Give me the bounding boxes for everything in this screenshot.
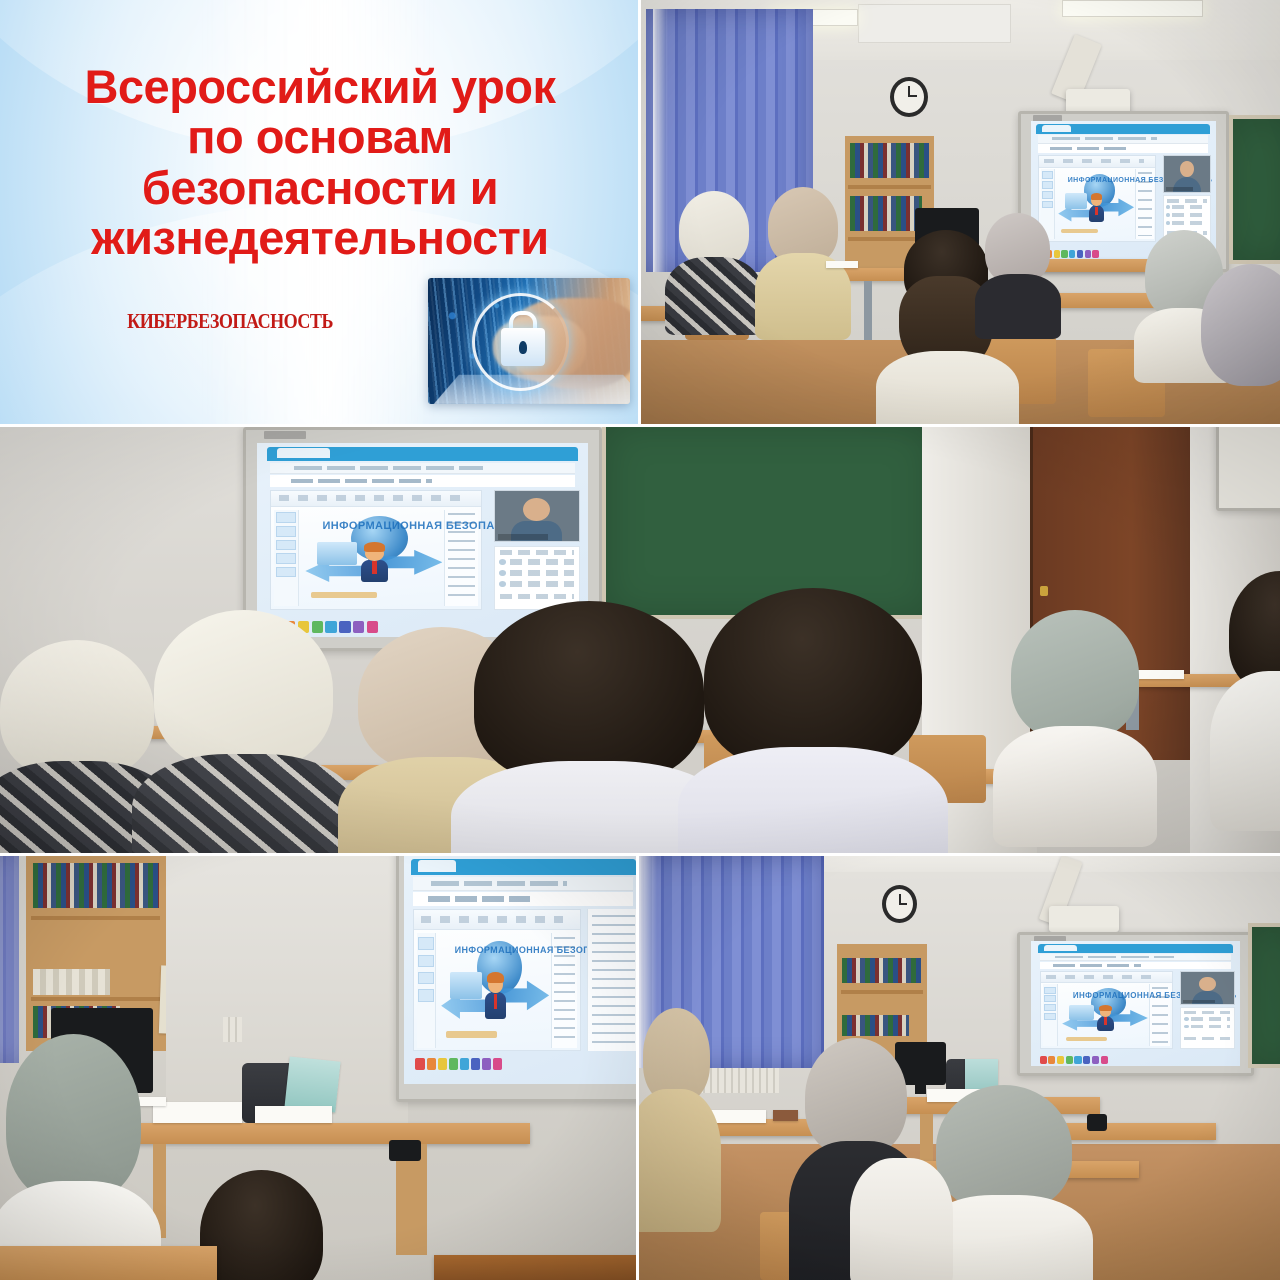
webinar-title-bar (413, 892, 633, 906)
headscarf (0, 640, 154, 779)
slide-illustration: ИНФОРМАЦИОННАЯ БЕЗОПАСНОСТЬ (1057, 173, 1136, 236)
headscarf (679, 191, 749, 267)
chalkboard (1248, 923, 1280, 1068)
webinar-title-bar (1040, 962, 1232, 969)
classroom-scene: ИНФОРМАЦИОННАЯ БЕЗОПАСНОСТЬ (638, 855, 1280, 1280)
slide-heading-text: ИНФОРМАЦИОННАЯ БЕЗОПАСНОСТЬ (1068, 177, 1126, 184)
desk (0, 1246, 217, 1280)
pencil-case (773, 1110, 799, 1121)
slide-illustration: ИНФОРМАЦИОННАЯ БЕЗОПАСНОСТЬ (439, 938, 552, 1042)
headscarf (154, 610, 333, 770)
slide-thumbnail-strip[interactable] (417, 933, 437, 1048)
dock-icon[interactable] (339, 621, 350, 633)
presentation-slide-area: ИНФОРМАЦИОННАЯ БЕЗОПАСНОСТЬ (413, 909, 580, 1051)
bookcase-shelf-1 (841, 990, 924, 994)
floor-strip (434, 1255, 638, 1280)
teacher-desk (108, 1123, 529, 1144)
presenter-video (1163, 155, 1211, 193)
slide-thumbnail[interactable] (1044, 1004, 1056, 1011)
classroom-scene: ИНФОРМАЦИОННАЯ БЕЗОПАСНОСТЬ (640, 0, 1280, 425)
chat-avatar (499, 559, 507, 565)
presenter-name-label (498, 534, 548, 540)
presenter-face (1180, 161, 1195, 177)
presenter-face (1199, 977, 1216, 992)
dock-icon[interactable] (1061, 250, 1067, 258)
speaker (389, 1140, 421, 1161)
browser-tab[interactable] (277, 448, 330, 458)
presenter-name-label (1166, 187, 1194, 191)
chat-avatar (1184, 1025, 1189, 1029)
student (1011, 610, 1139, 834)
torso (665, 257, 761, 336)
chat-avatar (1184, 1017, 1189, 1021)
teacher (638, 1008, 715, 1246)
student-figure-tie (372, 561, 376, 573)
whiteboard-brand-label (264, 431, 306, 439)
interactive-whiteboard[interactable]: ИНФОРМАЦИОННАЯ БЕЗОПАСНОСТЬ (396, 855, 638, 1102)
paper (709, 1110, 767, 1123)
dock-icon[interactable] (1077, 250, 1083, 258)
presenter-video (494, 490, 580, 542)
cybersecurity-padlock-image (428, 278, 630, 404)
door-handle[interactable] (1040, 586, 1048, 596)
student-figure-hair (487, 972, 504, 983)
dock-icon[interactable] (438, 1058, 447, 1069)
student (979, 213, 1056, 332)
presenter-name-label (1183, 1000, 1214, 1004)
slide-thumbnail[interactable] (1044, 995, 1056, 1002)
desk-graphic (446, 1031, 498, 1038)
student (474, 601, 704, 855)
student (704, 588, 922, 855)
classroom-photo-3: ИНФОРМАЦИОННАЯ БЕЗОПАСНОСТЬ (0, 855, 638, 1280)
notice-board (1216, 425, 1280, 511)
bookcase-shelf-2 (31, 997, 160, 1001)
sleeve (850, 1158, 953, 1280)
monitor-graphic (317, 542, 357, 565)
dock-icon[interactable] (1101, 1056, 1108, 1063)
student (672, 191, 755, 327)
headscarf (805, 1038, 907, 1156)
headscarf (1201, 264, 1280, 386)
slide-thumbnail[interactable] (1042, 171, 1053, 179)
bookcase-shelf-1 (31, 916, 160, 920)
chat-row (510, 581, 574, 587)
slide-thumbnail[interactable] (276, 567, 296, 578)
webinar-title-bar (1038, 144, 1208, 152)
dock-icon[interactable] (1069, 250, 1075, 258)
student-arm (850, 1144, 953, 1280)
whiteboard-screen[interactable]: ИНФОРМАЦИОННАЯ БЕЗОПАСНОСТЬ (1031, 941, 1239, 1066)
collage-seam-vertical-top (638, 0, 641, 425)
chat-row (1184, 1011, 1230, 1015)
slide-title: Всероссийский урок по основам безопаснос… (12, 62, 628, 263)
dock-icon[interactable] (1048, 1056, 1055, 1063)
projector (1049, 906, 1120, 932)
desk-graphic (1066, 1037, 1107, 1041)
slide-thumbnail[interactable] (276, 512, 296, 523)
dock-icon[interactable] (1085, 250, 1091, 258)
chat-avatar (1166, 221, 1170, 225)
papers-row (33, 969, 110, 996)
ceiling-panel (858, 4, 1012, 42)
chat-avatar (1166, 213, 1170, 217)
headscarf (936, 1085, 1072, 1211)
hair (200, 1170, 324, 1280)
dock-icon[interactable] (1092, 1056, 1099, 1063)
chat-avatar (1166, 205, 1170, 209)
window-light (653, 9, 668, 273)
slide-thumbnail[interactable] (1044, 1013, 1056, 1020)
torso (678, 747, 948, 855)
monitor-graphic (1069, 1005, 1094, 1019)
bookcase-shelf-1 (848, 185, 930, 189)
chat-row (500, 550, 574, 556)
taskbar-dock[interactable] (415, 1058, 515, 1069)
interactive-whiteboard[interactable]: ИНФОРМАЦИОННАЯ БЕЗОПАСНОСТЬ (1017, 932, 1255, 1077)
chat-panel[interactable] (494, 546, 580, 610)
books-row-2 (850, 196, 922, 231)
chat-row (510, 559, 574, 565)
wall-clock (890, 77, 928, 117)
slide-illustration: ИНФОРМАЦИОННАЯ БЕЗОПАСНОСТЬ (1060, 987, 1149, 1043)
slide-illustration: ИНФОРМАЦИОННАЯ БЕЗОПАСНОСТЬ (303, 514, 446, 601)
desk-graphic (311, 592, 377, 598)
slide-thumbnail[interactable] (1042, 181, 1053, 189)
padlock-keyhole-icon (519, 341, 527, 354)
cloth-on-chair (285, 1056, 341, 1112)
browser-tab[interactable] (1044, 945, 1077, 951)
slide-heading-text: ИНФОРМАЦИОННАЯ БЕЗОПАСНОСТЬ (455, 945, 538, 955)
torso (975, 274, 1061, 338)
hair (704, 588, 922, 770)
chat-avatar (499, 570, 507, 576)
torso (638, 1089, 721, 1232)
torso (132, 754, 358, 855)
collage-seam-horizontal-2 (0, 853, 1280, 856)
student (762, 187, 845, 332)
chat-row (500, 594, 574, 600)
slide-title-line-2: по основам (12, 112, 628, 162)
presentation-ribbon (414, 910, 579, 930)
chat-row (1191, 1025, 1231, 1029)
slide-heading-text: ИНФОРМАЦИОННАЯ БЕЗОПАСНОСТЬ (1073, 991, 1139, 1000)
dock-icon[interactable] (493, 1058, 502, 1069)
headscarf (985, 213, 1050, 284)
torso (876, 351, 1019, 425)
student-figure-hair (364, 542, 385, 552)
classroom-scene: ИНФОРМАЦИОННАЯ БЕЗОПАСНОСТЬ (0, 425, 1280, 855)
classroom-photo-2: ИНФОРМАЦИОННАЯ БЕЗОПАСНОСТЬ (0, 425, 1280, 855)
stack-of-books (153, 1102, 242, 1123)
student (0, 640, 154, 855)
presenter-video (1180, 971, 1234, 1005)
slide-title-line-3: безопасности и (12, 163, 628, 213)
hair (474, 601, 704, 783)
dock-icon[interactable] (1040, 1056, 1047, 1063)
taskbar-dock[interactable] (1040, 1056, 1119, 1063)
chat-row (1172, 221, 1207, 225)
student-figure-tie (494, 994, 497, 1009)
student-figure-hair (1099, 1005, 1112, 1011)
chalkboard (1229, 115, 1280, 264)
student (0, 1034, 147, 1280)
slide-thumbnail[interactable] (276, 526, 296, 537)
address-bar[interactable] (413, 877, 633, 891)
slide-thumbnail[interactable] (1042, 201, 1053, 209)
monitor-stand (915, 1085, 925, 1094)
student-figure-hair (1091, 193, 1103, 200)
presentation-ribbon (1041, 972, 1172, 983)
dock-icon[interactable] (1074, 1056, 1081, 1063)
slide-thumbnail[interactable] (418, 955, 434, 968)
student-figure-tie (1104, 1017, 1107, 1025)
slide-subtitle: КИБЕРБЕЗОПАСНОСТЬ (118, 309, 342, 334)
dock-icon[interactable] (415, 1058, 424, 1069)
slide-thumbnail[interactable] (418, 989, 434, 1002)
slide-thumbnail[interactable] (1044, 987, 1056, 994)
dock-icon[interactable] (471, 1058, 480, 1069)
chat-panel[interactable] (1180, 1007, 1234, 1048)
dock-icon[interactable] (1083, 1056, 1090, 1063)
books-row-2 (842, 1015, 909, 1036)
side-panel (587, 909, 638, 1051)
presentation-ribbon (271, 491, 481, 508)
window-blinds (0, 855, 19, 1063)
student (154, 610, 333, 855)
browser-tab[interactable] (418, 860, 456, 871)
classroom-photo-1: ИНФОРМАЦИОННАЯ БЕЗОПАСНОСТЬ (640, 0, 1280, 425)
photo-collage: Всероссийский урок по основам безопаснос… (0, 0, 1280, 1280)
slide-thumbnail[interactable] (418, 937, 434, 950)
paper (826, 261, 858, 268)
chat-row (1172, 213, 1207, 217)
presentation-slide-area: ИНФОРМАЦИОННАЯ БЕЗОПАСНОСТЬ (270, 490, 482, 610)
presenter-face (523, 498, 550, 521)
books-row-1 (842, 958, 921, 983)
chat-row (1172, 205, 1207, 209)
wall-clock (882, 885, 917, 923)
torso (993, 726, 1157, 847)
chat-row (1191, 1017, 1231, 1021)
presentation-ribbon (1039, 156, 1155, 168)
dock-icon[interactable] (1092, 250, 1098, 258)
student (1197, 264, 1280, 426)
slide-thumbnail-strip[interactable] (274, 510, 299, 607)
browser-tab[interactable] (1042, 125, 1072, 132)
whiteboard-screen[interactable]: ИНФОРМАЦИОННАЯ БЕЗОПАСНОСТЬ (404, 855, 638, 1084)
collage-seam-vertical-bottom (636, 855, 639, 1280)
headscarf (1011, 610, 1139, 740)
chat-row (1167, 199, 1207, 203)
desk-graphic (1061, 229, 1097, 233)
speaker (1087, 1114, 1106, 1131)
desk-leg (864, 281, 872, 341)
headscarf (6, 1034, 141, 1203)
student-figure-tie (1095, 207, 1097, 216)
classroom-scene: ИНФОРМАЦИОННАЯ БЕЗОПАСНОСТЬ (0, 855, 638, 1280)
books-row-1 (850, 143, 929, 178)
title-slide-panel: Всероссийский урок по основам безопаснос… (0, 0, 640, 425)
classroom-photo-4: ИНФОРМАЦИОННАЯ БЕЗОПАСНОСТЬ (638, 855, 1280, 1280)
webinar-title-bar (270, 475, 575, 487)
chat-row (510, 570, 574, 576)
wall-socket (223, 1017, 242, 1043)
slide-thumbnail[interactable] (418, 972, 434, 985)
slide-thumbnail-strip[interactable] (1043, 984, 1059, 1046)
slide-thumbnail[interactable] (276, 553, 296, 564)
dock-icon[interactable] (482, 1058, 491, 1069)
address-bar[interactable] (1040, 954, 1232, 961)
slide-thumbnail[interactable] (1042, 191, 1053, 199)
address-bar[interactable] (1038, 135, 1208, 143)
open-book (255, 1106, 332, 1123)
chat-row (1184, 1037, 1230, 1041)
monitor-graphic (1065, 193, 1087, 209)
chat-avatar (499, 581, 507, 587)
address-bar[interactable] (270, 463, 575, 475)
dock-icon[interactable] (1057, 1056, 1064, 1063)
student (1229, 571, 1280, 820)
slide-title-line-1: Всероссийский урок (12, 62, 628, 112)
dock-icon[interactable] (449, 1058, 458, 1069)
monitor-graphic (450, 972, 482, 999)
slide-heading-text: ИНФОРМАЦИОННАЯ БЕЗОПАСНОСТЬ (322, 520, 428, 532)
slide-thumbnail[interactable] (276, 540, 296, 551)
slide-title-line-4: жизнедеятельности (12, 213, 628, 263)
ceiling-light-right (1062, 0, 1203, 17)
dock-icon[interactable] (460, 1058, 469, 1069)
books-row-1 (33, 863, 159, 908)
dock-icon[interactable] (427, 1058, 436, 1069)
presentation-slide-area: ИНФОРМАЦИОННАЯ БЕЗОПАСНОСТЬ (1040, 971, 1173, 1048)
dock-icon[interactable] (1066, 1056, 1073, 1063)
